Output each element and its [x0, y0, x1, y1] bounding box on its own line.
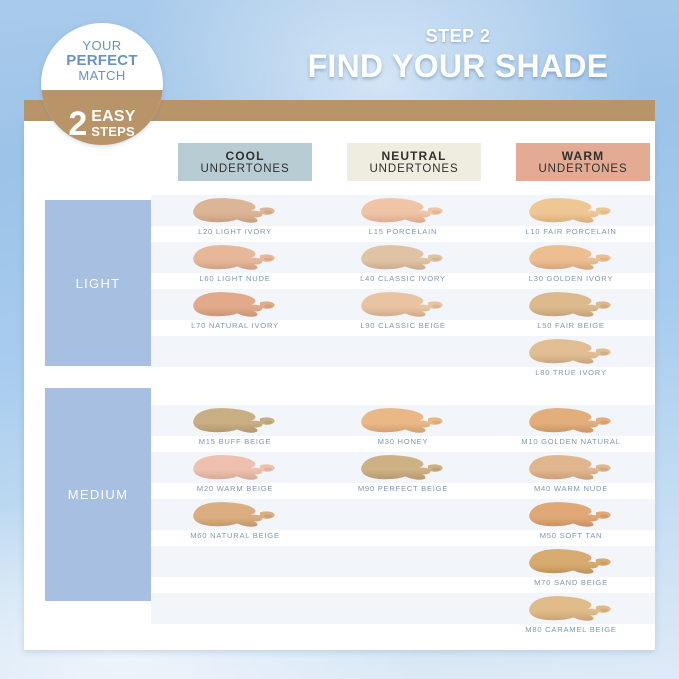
shade-label: L70 NATURAL IVORY — [151, 321, 319, 331]
badge-steps-words: EASY STEPS — [91, 109, 135, 139]
shade-swatch[interactable] — [190, 500, 280, 530]
shade-label: M30 HONEY — [319, 437, 487, 447]
shade-swatch-smear — [526, 337, 616, 367]
shade-swatch[interactable] — [526, 243, 616, 273]
shade-cell[interactable]: M50 SOFT TAN — [487, 499, 655, 546]
column-header-warm-sub: UNDERTONES — [538, 163, 627, 176]
shade-swatch[interactable] — [526, 594, 616, 624]
shade-cell[interactable]: M30 HONEY — [319, 405, 487, 452]
shade-swatch[interactable] — [526, 337, 616, 367]
shade-swatch[interactable] — [190, 453, 280, 483]
perfect-match-badge: YOUR PERFECT MATCH 2 EASY STEPS — [41, 23, 163, 145]
shade-cell[interactable]: L60 LIGHT NUDE — [151, 242, 319, 289]
shade-swatch-smear — [526, 406, 616, 436]
shade-swatch[interactable] — [526, 196, 616, 226]
column-header-neutral: NEUTRAL UNDERTONES — [347, 143, 481, 181]
shade-swatch[interactable] — [358, 290, 448, 320]
shade-cell[interactable]: L10 FAIR PORCELAIN — [487, 195, 655, 242]
group-panel-medium: MEDIUM — [45, 388, 151, 601]
shade-swatch-smear — [526, 594, 616, 624]
shade-swatch[interactable] — [358, 406, 448, 436]
shade-label: M10 GOLDEN NATURAL — [487, 437, 655, 447]
column-header-cool: COOL UNDERTONES — [178, 143, 312, 181]
badge-line-perfect: PERFECT — [41, 53, 163, 68]
shade-cell[interactable]: M15 BUFF BEIGE — [151, 405, 319, 452]
shade-cell[interactable]: L70 NATURAL IVORY — [151, 289, 319, 336]
shade-swatch-smear — [190, 196, 280, 226]
group-label-medium: MEDIUM — [68, 487, 129, 502]
shade-swatch-smear — [526, 290, 616, 320]
group-panel-light: LIGHT — [45, 200, 151, 366]
shade-swatch-smear — [526, 453, 616, 483]
shade-swatch[interactable] — [526, 547, 616, 577]
shade-swatch[interactable] — [358, 453, 448, 483]
shade-swatch-smear — [190, 290, 280, 320]
shade-label: L40 CLASSIC IVORY — [319, 274, 487, 284]
shade-swatch-smear — [190, 243, 280, 273]
shade-label: M80 CARAMEL BEIGE — [487, 625, 655, 635]
badge-line-your: YOUR — [41, 38, 163, 53]
shade-cell[interactable]: M20 WARM BEIGE — [151, 452, 319, 499]
title-block: STEP 2 FIND YOUR SHADE — [258, 26, 658, 84]
badge-steps-block: 2 EASY STEPS — [41, 107, 163, 141]
shade-cell[interactable]: M10 GOLDEN NATURAL — [487, 405, 655, 452]
shade-cell[interactable]: M60 NATURAL BEIGE — [151, 499, 319, 546]
shade-label: L80 TRUE IVORY — [487, 368, 655, 378]
shade-cell[interactable]: M40 WARM NUDE — [487, 452, 655, 499]
shade-label: L60 LIGHT NUDE — [151, 274, 319, 284]
shade-swatch-smear — [358, 406, 448, 436]
shade-swatch[interactable] — [190, 406, 280, 436]
shade-swatch-smear — [190, 453, 280, 483]
shade-label: L15 PORCELAIN — [319, 227, 487, 237]
column-header-warm: WARM UNDERTONES — [516, 143, 650, 181]
badge-word-easy: EASY — [91, 109, 135, 124]
shade-finder-poster: STEP 2 FIND YOUR SHADE YOUR PERFECT MATC… — [0, 0, 679, 679]
shade-label: L30 GOLDEN IVORY — [487, 274, 655, 284]
shade-label: M20 WARM BEIGE — [151, 484, 319, 494]
shade-swatch-smear — [526, 547, 616, 577]
badge-line-match: MATCH — [41, 68, 163, 83]
shade-label: M70 SAND BEIGE — [487, 578, 655, 588]
shade-swatch-smear — [358, 453, 448, 483]
shade-swatch-smear — [526, 196, 616, 226]
shade-swatch[interactable] — [526, 500, 616, 530]
shade-label: M60 NATURAL BEIGE — [151, 531, 319, 541]
shade-swatch[interactable] — [190, 290, 280, 320]
shade-cell[interactable]: M80 CARAMEL BEIGE — [487, 593, 655, 640]
badge-step-number: 2 — [68, 107, 87, 141]
column-header-neutral-name: NEUTRAL — [381, 149, 446, 163]
shade-cell[interactable]: L20 LIGHT IVORY — [151, 195, 319, 242]
page-title: FIND YOUR SHADE — [258, 48, 658, 84]
column-header-cool-sub: UNDERTONES — [200, 163, 289, 176]
shade-label: M15 BUFF BEIGE — [151, 437, 319, 447]
shade-cell[interactable]: M70 SAND BEIGE — [487, 546, 655, 593]
shade-cell[interactable]: L50 FAIR BEIGE — [487, 289, 655, 336]
badge-top-text: YOUR PERFECT MATCH — [41, 38, 163, 83]
shade-swatch-smear — [190, 406, 280, 436]
column-header-warm-name: WARM — [562, 149, 604, 163]
shade-label: L10 FAIR PORCELAIN — [487, 227, 655, 237]
shade-cell[interactable]: L90 CLASSIC BEIGE — [319, 289, 487, 336]
shade-label: M90 PERFECT BEIGE — [319, 484, 487, 494]
shade-label: L90 CLASSIC BEIGE — [319, 321, 487, 331]
shade-cell[interactable]: L80 TRUE IVORY — [487, 336, 655, 383]
shade-swatch-smear — [358, 243, 448, 273]
group-label-light: LIGHT — [76, 276, 121, 291]
shade-swatch[interactable] — [526, 406, 616, 436]
shade-swatch-smear — [358, 290, 448, 320]
shade-swatch-smear — [358, 196, 448, 226]
step-label: STEP 2 — [258, 26, 658, 46]
shade-swatch[interactable] — [358, 196, 448, 226]
column-header-cool-name: COOL — [225, 149, 264, 163]
shade-swatch[interactable] — [190, 243, 280, 273]
shade-swatch-smear — [526, 243, 616, 273]
column-header-neutral-sub: UNDERTONES — [369, 163, 458, 176]
shade-cell[interactable]: L40 CLASSIC IVORY — [319, 242, 487, 289]
shade-cell[interactable]: M90 PERFECT BEIGE — [319, 452, 487, 499]
shade-cell[interactable]: L30 GOLDEN IVORY — [487, 242, 655, 289]
shade-grid: L20 LIGHT IVORY L15 PORCELAIN L10 FAIR P… — [151, 195, 655, 640]
badge-word-steps: STEPS — [91, 124, 135, 139]
shade-label: M50 SOFT TAN — [487, 531, 655, 541]
shade-swatch[interactable] — [190, 196, 280, 226]
shade-swatch-smear — [526, 500, 616, 530]
shade-swatch[interactable] — [358, 243, 448, 273]
shade-swatch[interactable] — [526, 290, 616, 320]
shade-swatch-smear — [190, 500, 280, 530]
shade-cell[interactable]: L15 PORCELAIN — [319, 195, 487, 242]
shade-label: M40 WARM NUDE — [487, 484, 655, 494]
shade-label: L20 LIGHT IVORY — [151, 227, 319, 237]
shade-swatch[interactable] — [526, 453, 616, 483]
shade-label: L50 FAIR BEIGE — [487, 321, 655, 331]
